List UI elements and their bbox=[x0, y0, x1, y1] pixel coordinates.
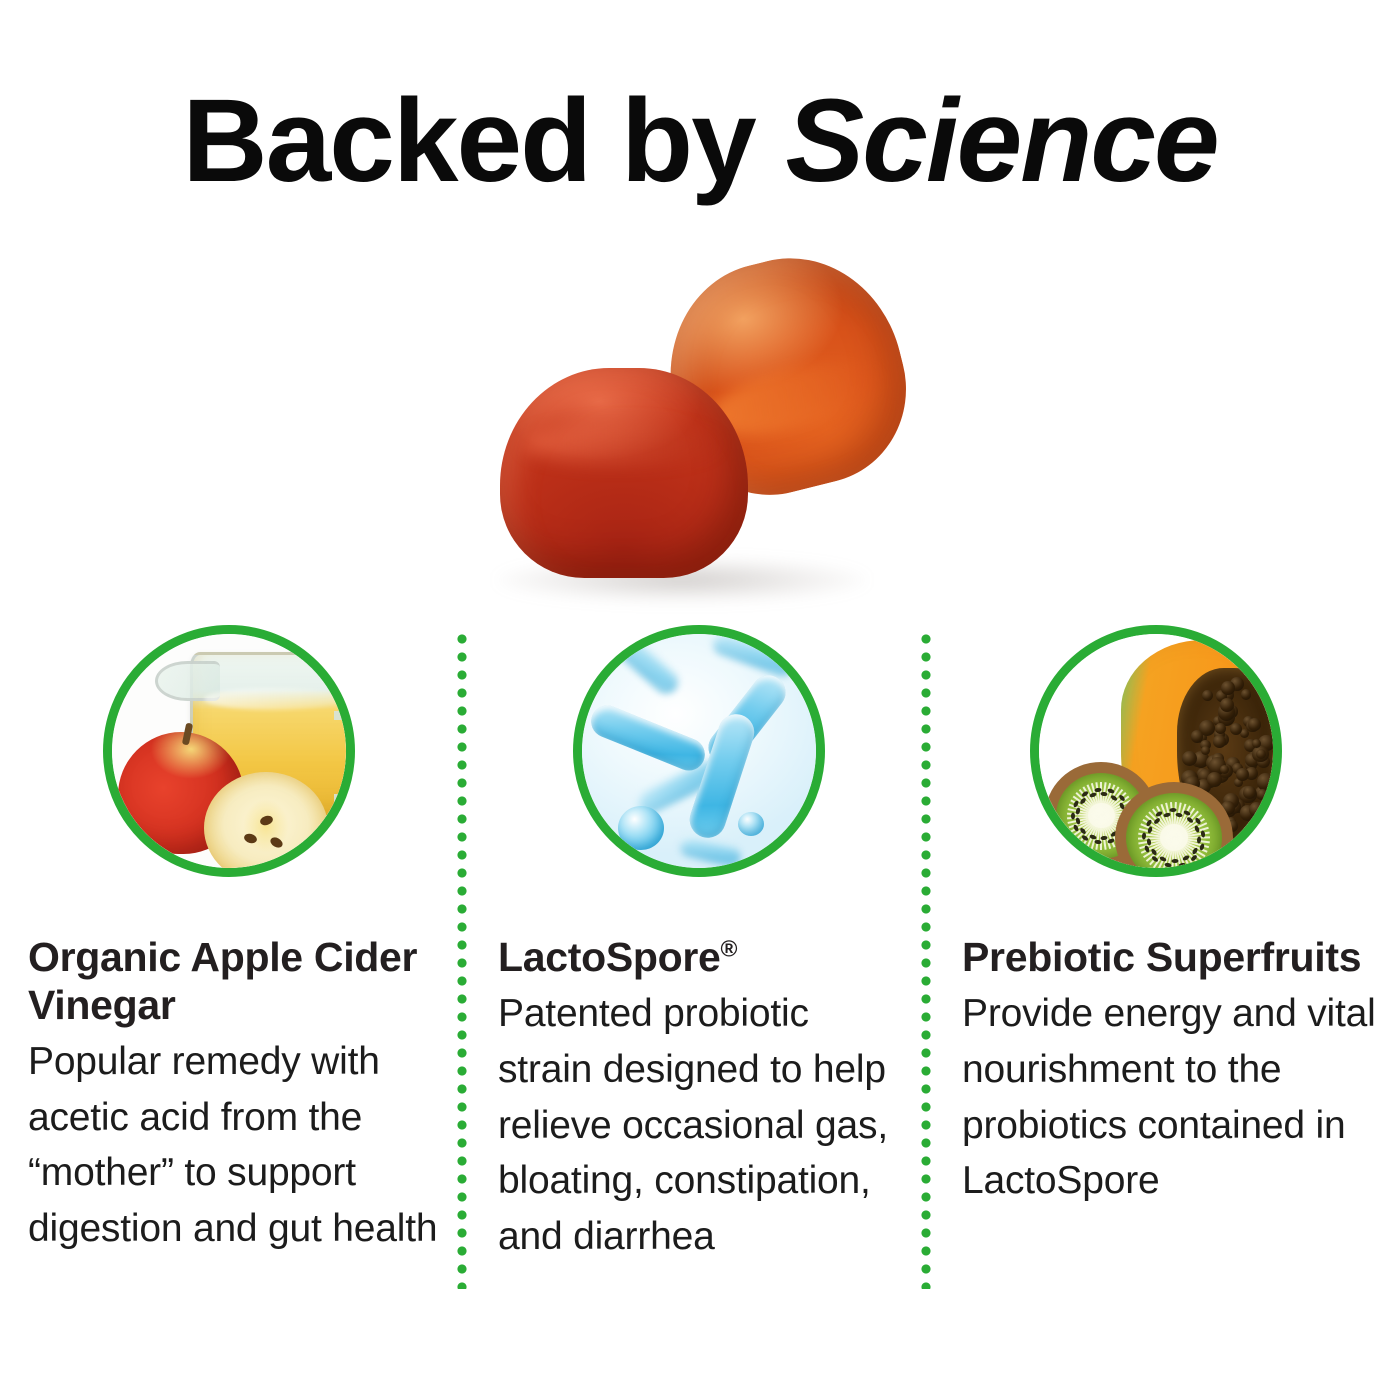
kiwi-seed bbox=[1094, 787, 1101, 792]
papaya-seed bbox=[1213, 735, 1226, 748]
acv-image-inner bbox=[112, 634, 346, 868]
papaya-seed bbox=[1257, 773, 1273, 791]
column-body: Provide energy and vital nourishment to … bbox=[962, 986, 1380, 1209]
registered-trademark-icon: ® bbox=[721, 935, 738, 961]
column-body: Popular remedy with acetic acid from the… bbox=[28, 1034, 440, 1257]
kiwi-seed bbox=[1100, 791, 1107, 796]
page-title: Backed by Science bbox=[0, 82, 1400, 200]
infographic-page: Backed by Science Organic App bbox=[0, 0, 1400, 1400]
acv-circle-image bbox=[103, 625, 355, 877]
vinegar-surface-highlight bbox=[204, 688, 344, 710]
superfruits-circle-image bbox=[1030, 625, 1282, 877]
probiotic-circle-image bbox=[573, 625, 825, 877]
papaya-seed bbox=[1241, 689, 1251, 699]
page-title-italic: Science bbox=[786, 75, 1218, 207]
column-heading: Organic Apple Cider Vinegar bbox=[28, 934, 428, 1030]
column-heading: Prebiotic Superfruits bbox=[962, 934, 1382, 982]
papaya-seed bbox=[1230, 723, 1242, 735]
kiwi-seed bbox=[1197, 836, 1202, 843]
benefit-column-superfruits: Prebiotic Superfruits Provide energy and… bbox=[962, 625, 1380, 1209]
papaya-seed bbox=[1220, 698, 1234, 712]
papaya-seed bbox=[1249, 802, 1264, 817]
column-heading-text: LactoSpore bbox=[498, 934, 721, 980]
papaya-seed bbox=[1236, 768, 1249, 781]
papaya-seed bbox=[1248, 718, 1261, 731]
dotted-divider-2 bbox=[921, 634, 931, 1289]
papaya-seed bbox=[1207, 772, 1222, 787]
bacteria-cell bbox=[738, 812, 764, 836]
superfruits-image-inner bbox=[1039, 634, 1273, 868]
papaya-seed bbox=[1201, 746, 1210, 755]
column-heading: LactoSpore® bbox=[498, 934, 898, 982]
page-title-regular: Backed by bbox=[182, 75, 785, 207]
benefit-column-lactospore: LactoSpore® Patented probiotic strain de… bbox=[498, 625, 898, 1265]
benefit-column-acv: Organic Apple Cider Vinegar Popular reme… bbox=[28, 625, 438, 1257]
column-body: Patented probiotic strain designed to he… bbox=[498, 986, 898, 1265]
papaya-seed bbox=[1182, 751, 1197, 766]
papaya-seed bbox=[1202, 690, 1213, 701]
dotted-divider-1 bbox=[457, 634, 467, 1289]
bacteria-cell bbox=[618, 806, 664, 850]
gummy-front bbox=[500, 368, 748, 578]
hero-product-image bbox=[470, 240, 940, 620]
papaya-seed bbox=[1191, 730, 1204, 743]
papaya-seed bbox=[1221, 681, 1235, 695]
probiotic-image-inner bbox=[582, 634, 816, 868]
